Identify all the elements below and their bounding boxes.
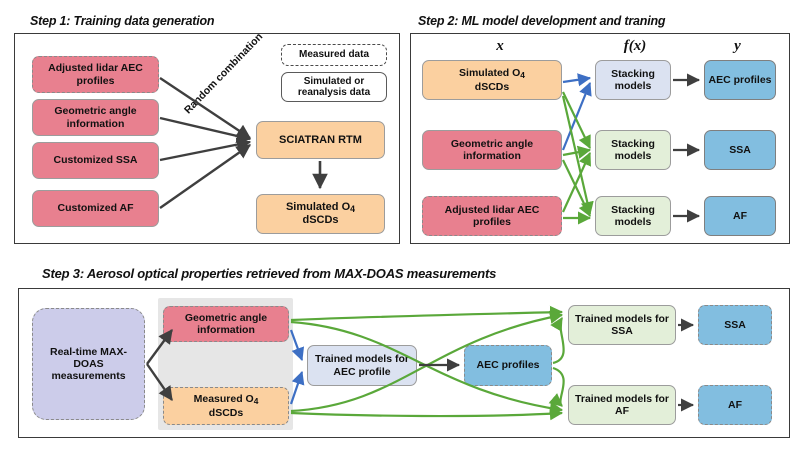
- step1-title: Step 1: Training data generation: [30, 14, 214, 28]
- step3-measured-o4-dscds[interactable]: Measured O4 dSCDs: [163, 387, 289, 425]
- step3-measured-o4-dscds-label: Measured O4 dSCDs: [194, 393, 259, 419]
- step2-output-af-label: AF: [733, 210, 747, 222]
- step2-o4-pre: Simulated O: [459, 67, 520, 79]
- step3-output-ssa-label: SSA: [724, 319, 746, 331]
- step2-o4-sub: 4: [520, 70, 525, 80]
- step3-output-ssa[interactable]: SSA: [698, 305, 772, 345]
- step3-source-maxdoas[interactable]: Real-time MAX-DOAS measurements: [32, 308, 145, 420]
- step3-geometric-angle-label: Geometric angle information: [168, 312, 284, 336]
- step2-header-fx: f(x): [585, 38, 685, 55]
- step1-input-geometric-angle-label: Geometric angle information: [38, 105, 153, 129]
- step1-input-lidar-aec-label: Adjusted lidar AEC profiles: [38, 62, 153, 86]
- step2-output-ssa-label: SSA: [729, 144, 751, 156]
- legend-measured-data: Measured data: [281, 44, 387, 66]
- step2-model-ssa[interactable]: Stacking models: [595, 130, 671, 170]
- step3-source-maxdoas-label: Real-time MAX-DOAS measurements: [38, 346, 139, 382]
- step2-input-geometric-angle-label: Geometric angle information: [428, 138, 556, 162]
- step2-model-ssa-label: Stacking models: [596, 138, 670, 162]
- step1-input-customized-ssa[interactable]: Customized SSA: [32, 142, 159, 179]
- step3-trained-model-af[interactable]: Trained models for AF: [568, 385, 676, 425]
- step2-input-simulated-o4[interactable]: Simulated O4 dSCDs: [422, 60, 562, 100]
- step2-model-aec-label: Stacking models: [596, 68, 670, 92]
- step2-output-aec-profiles-label: AEC profiles: [708, 74, 771, 86]
- step1-sciatran-rtm-label: SCIATRAN RTM: [279, 134, 362, 147]
- step1-simulated-o4-dscds-label: Simulated O4 dSCDs: [286, 201, 355, 227]
- step2-output-aec-profiles[interactable]: AEC profiles: [704, 60, 776, 100]
- step1-simulated-o4-dscds[interactable]: Simulated O4 dSCDs: [256, 194, 385, 234]
- step3-output-af[interactable]: AF: [698, 385, 772, 425]
- step3-trained-model-aec[interactable]: Trained models for AEC profile: [307, 345, 417, 386]
- step3-aec-profiles[interactable]: AEC profiles: [464, 345, 552, 386]
- step3-output-af-label: AF: [728, 399, 742, 411]
- step2-o4-post: dSCDs: [475, 81, 509, 93]
- step2-model-af[interactable]: Stacking models: [595, 196, 671, 236]
- step2-output-ssa[interactable]: SSA: [704, 130, 776, 170]
- step3-trained-model-ssa[interactable]: Trained models for SSA: [568, 305, 676, 345]
- step1-input-geometric-angle[interactable]: Geometric angle information: [32, 99, 159, 136]
- step2-title: Step 2: ML model development and traning: [418, 14, 665, 28]
- step2-input-geometric-angle[interactable]: Geometric angle information: [422, 130, 562, 170]
- step3-title: Step 3: Aerosol optical properties retri…: [42, 266, 496, 281]
- step2-input-lidar-aec[interactable]: Adjusted lidar AEC profiles: [422, 196, 562, 236]
- step3-o4-post: dSCDs: [209, 407, 243, 419]
- step3-trained-model-af-label: Trained models for AF: [569, 393, 675, 417]
- step2-model-aec[interactable]: Stacking models: [595, 60, 671, 100]
- step2-header-x: x: [425, 38, 575, 55]
- step1-input-lidar-aec[interactable]: Adjusted lidar AEC profiles: [32, 56, 159, 93]
- step2-model-af-label: Stacking models: [596, 204, 670, 228]
- step3-aec-profiles-label: AEC profiles: [476, 359, 539, 371]
- step3-geometric-angle[interactable]: Geometric angle information: [163, 306, 289, 342]
- step2-input-simulated-o4-label: Simulated O4 dSCDs: [459, 67, 525, 93]
- simulated-o4-post: dSCDs: [302, 214, 338, 226]
- legend-simulated-data-label: Simulated or reanalysis data: [285, 76, 383, 99]
- step1-sciatran-rtm[interactable]: SCIATRAN RTM: [256, 121, 385, 159]
- step2-header-y: y: [690, 38, 785, 55]
- legend-measured-data-label: Measured data: [299, 49, 369, 61]
- step3-o4-pre: Measured O: [194, 393, 254, 405]
- step1-input-customized-af[interactable]: Customized AF: [32, 190, 159, 227]
- step2-input-lidar-aec-label: Adjusted lidar AEC profiles: [428, 204, 556, 228]
- step2-output-af[interactable]: AF: [704, 196, 776, 236]
- step3-trained-model-ssa-label: Trained models for SSA: [569, 313, 675, 337]
- simulated-o4-pre: Simulated O: [286, 201, 350, 213]
- step3-trained-model-aec-label: Trained models for AEC profile: [311, 353, 413, 377]
- step3-o4-sub: 4: [254, 396, 259, 406]
- step1-input-customized-ssa-label: Customized SSA: [53, 154, 137, 166]
- legend-simulated-data: Simulated or reanalysis data: [281, 72, 387, 102]
- simulated-o4-sub: 4: [350, 204, 355, 214]
- step1-input-customized-af-label: Customized AF: [57, 202, 133, 214]
